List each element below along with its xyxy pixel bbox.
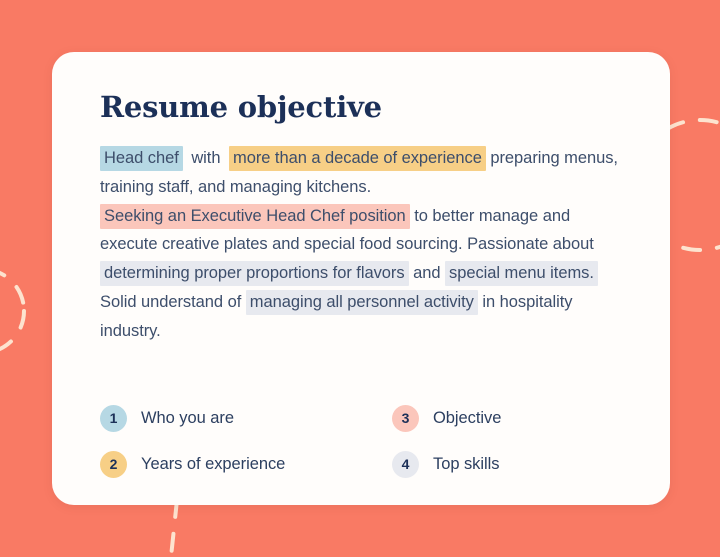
- legend-item-objective: 3 Objective: [392, 405, 630, 432]
- legend-badge-1-icon: 1: [100, 405, 127, 432]
- legend-badge-2-icon: 2: [100, 451, 127, 478]
- legend-badge-3-icon: 3: [392, 405, 419, 432]
- objective-segment-skill-menu-items: special menu items.: [445, 261, 598, 286]
- legend-item-who-you-are: 1 Who you are: [100, 405, 392, 432]
- objective-segment-objective: Seeking an Executive Head Chef position: [100, 204, 410, 229]
- objective-segment-skill-personnel: managing all personnel activity: [246, 290, 478, 315]
- objective-segment-years-experience: more than a decade of experience: [229, 146, 486, 171]
- objective-segment-skill-proportions: determining proper proportions for flavo…: [100, 261, 409, 286]
- legend-label-3: Objective: [433, 409, 501, 428]
- legend-badge-4-icon: 4: [392, 451, 419, 478]
- resume-objective-card: Resume objective Head chef with more tha…: [52, 52, 670, 505]
- objective-segment-solid-understand: Solid understand of: [100, 293, 246, 311]
- legend-label-1: Who you are: [141, 409, 234, 428]
- objective-segment-connector-with: with: [183, 146, 229, 171]
- legend: 1 Who you are 3 Objective 2 Years of exp…: [100, 395, 630, 487]
- page-title: Resume objective: [100, 90, 624, 124]
- legend-item-years-of-experience: 2 Years of experience: [100, 451, 392, 478]
- legend-item-top-skills: 4 Top skills: [392, 451, 630, 478]
- objective-segment-who-you-are: Head chef: [100, 146, 183, 171]
- objective-paragraph: Head chef with more than a decade of exp…: [100, 144, 624, 346]
- legend-label-4: Top skills: [433, 455, 499, 474]
- dashed-line-bottom-icon: [171, 500, 177, 557]
- legend-label-2: Years of experience: [141, 455, 285, 474]
- dashed-circle-left-icon: [0, 269, 24, 353]
- objective-segment-connector-and: and: [409, 264, 445, 282]
